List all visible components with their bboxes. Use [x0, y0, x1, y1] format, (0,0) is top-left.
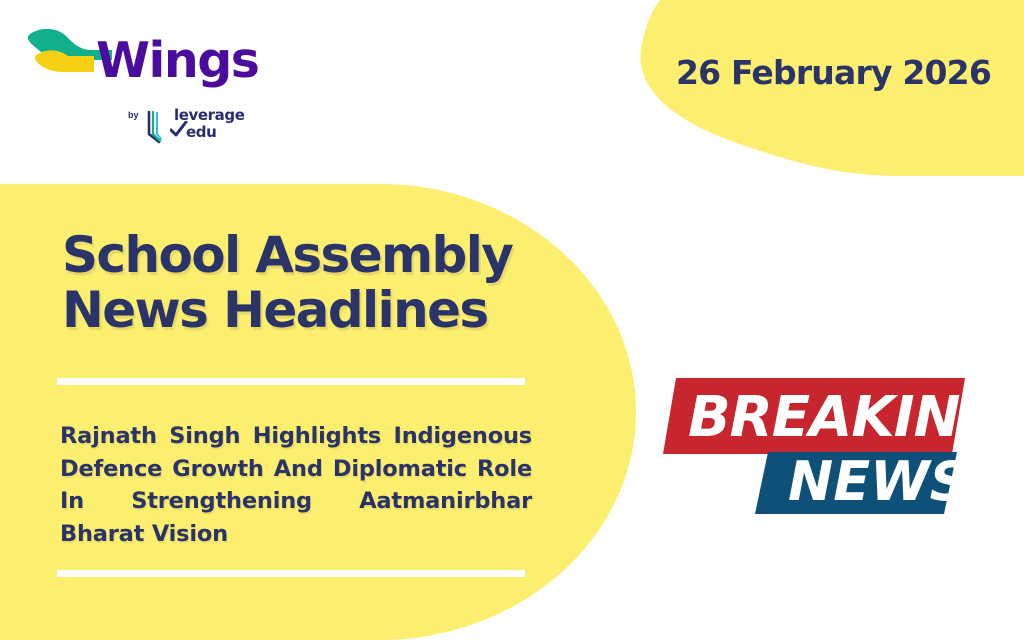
badge-line2: NEWS [788, 450, 969, 513]
headline-text: Rajnath Singh Highlights Indigenous Defe… [60, 420, 532, 551]
logo-by-label: by [128, 110, 139, 120]
logo-wordmark: Wings [96, 36, 258, 85]
wings-logo[interactable]: Wings by leverage edu [24, 22, 239, 137]
news-banner-canvas: Wings by leverage edu 26 February 2026 S… [0, 0, 1024, 640]
breaking-news-badge: BREAKING NEWS [660, 366, 980, 516]
date-label: 26 February 2026 [676, 53, 991, 92]
badge-line1: BREAKING [688, 385, 980, 450]
divider-bottom [57, 570, 525, 577]
logo-brand-line2: edu [186, 123, 216, 141]
divider-top [57, 378, 525, 385]
logo-brand-line1: leverage [174, 108, 245, 124]
page-title: School Assembly News Headlines [62, 228, 562, 338]
